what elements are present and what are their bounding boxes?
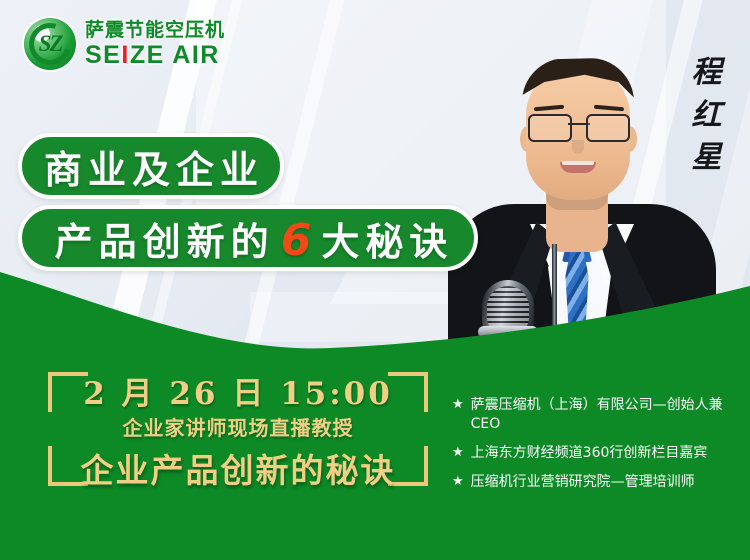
headline-line-2-suffix: 大秘诀 [315, 220, 453, 264]
star-icon: ★ [452, 473, 464, 491]
headline-line-2: 产品创新的6大秘诀 [43, 211, 454, 266]
star-icon: ★ [452, 444, 464, 462]
brand-wordmark: 萨震节能空压机 SEIZE AIR [85, 21, 225, 68]
list-item: ★ 萨震压缩机（上海）有限公司—创始人兼CEO [452, 396, 742, 434]
lens-right [586, 114, 630, 142]
headline-badge-secondary: 产品创新的6大秘诀 [18, 205, 478, 271]
event-datetime: 2 月 26 日 15:00 [48, 368, 428, 413]
logo-monogram: SZ [24, 31, 76, 57]
brand-name-en-part1: SE [85, 41, 121, 69]
credential-text: 上海东方财经频道360行创新栏目嘉宾 [471, 444, 708, 463]
brand-name-en-red-letter: I [121, 41, 129, 69]
event-subtitle: 企业家讲师现场直播教授 [48, 412, 428, 441]
headline-line-1: 商业及企业 [38, 139, 264, 194]
list-item: ★ 压缩机行业营销研究院—管理培训师 [452, 473, 742, 492]
headline-line-2-prefix: 产品创新的 [49, 220, 275, 264]
eyeglasses-icon [528, 114, 630, 140]
headline-highlight-number: 6 [275, 215, 316, 266]
sz-circle-logo-icon: SZ [24, 18, 76, 70]
brand-name-en: SEIZE AIR [85, 43, 225, 68]
lens-left [528, 114, 572, 142]
brand-name-cn: 萨震节能空压机 [85, 21, 225, 40]
headline-badge-primary: 商业及企业 [18, 133, 284, 199]
credential-text: 压缩机行业营销研究院—管理培训师 [471, 473, 695, 492]
nose [572, 140, 584, 154]
brand-name-en-part2: ZE AIR [130, 41, 220, 69]
star-icon: ★ [452, 396, 464, 414]
speaker-name-vertical: 程 红 星 [680, 52, 734, 180]
list-item: ★ 上海东方财经频道360行创新栏目嘉宾 [452, 444, 742, 463]
event-details-block: 2 月 26 日 15:00 企业家讲师现场直播教授 企业产品创新的秘诀 [48, 362, 428, 492]
speaker-name-char-2: 红 [680, 95, 734, 138]
event-topic: 企业产品创新的秘诀 [48, 444, 428, 492]
brand-logo[interactable]: SZ 萨震节能空压机 SEIZE AIR [24, 18, 225, 70]
speaker-name-char-3: 星 [680, 137, 734, 180]
credential-text: 萨震压缩机（上海）有限公司—创始人兼CEO [471, 396, 742, 434]
credentials-list: ★ 萨震压缩机（上海）有限公司—创始人兼CEO ★ 上海东方财经频道360行创新… [452, 396, 742, 502]
promo-poster: SZ 萨震节能空压机 SEIZE AIR 商业及企业 产品创新的6大秘诀 程 红… [0, 0, 750, 560]
teeth [562, 161, 594, 165]
speaker-name-char-1: 程 [680, 52, 734, 95]
